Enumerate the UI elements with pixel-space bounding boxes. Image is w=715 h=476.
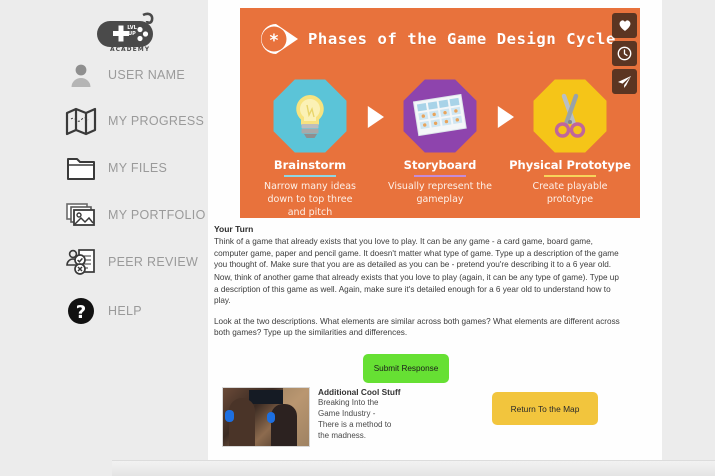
peer-review-icon bbox=[64, 245, 98, 279]
submit-response-button[interactable]: Submit Response bbox=[363, 354, 449, 383]
lesson-paragraph-1: Think of a game that already exists that… bbox=[214, 236, 624, 271]
sidebar-item-user-name[interactable]: USER NAME bbox=[52, 52, 208, 98]
sidebar-item-label: PEER REVIEW bbox=[108, 255, 198, 269]
banner-title: Phases of the Game Design Cycle bbox=[308, 30, 616, 48]
lesson-paragraph-3: Look at the two descriptions. What eleme… bbox=[214, 316, 624, 339]
additional-content-line: There is a method to bbox=[318, 420, 438, 431]
sidebar-item-my-progress[interactable]: MY PROGRESS bbox=[52, 98, 208, 144]
phase-description: Visually represent the gameplay bbox=[388, 181, 492, 207]
phases-row: Brainstorm Narrow many ideas down to top… bbox=[240, 78, 640, 218]
banner-header: * Phases of the Game Design Cycle bbox=[256, 22, 616, 56]
scrollbar-corner bbox=[0, 460, 112, 476]
lesson-text: Your Turn Think of a game that already e… bbox=[214, 224, 624, 340]
phase-rule bbox=[544, 175, 596, 177]
phase-name: Storyboard bbox=[404, 158, 477, 172]
question-mark-icon: ? bbox=[64, 294, 98, 328]
lightbulb-icon bbox=[289, 91, 331, 141]
additional-content-line: Breaking Into the bbox=[318, 398, 438, 409]
svg-text:*: * bbox=[270, 31, 279, 51]
page-root: LVL UP ACADEMY USER NAME bbox=[0, 0, 715, 476]
heart-icon bbox=[618, 19, 632, 32]
banner-action-buttons bbox=[612, 13, 637, 94]
additional-content-row: Additional Cool Stuff Breaking Into the … bbox=[222, 387, 642, 451]
sidebar-item-help[interactable]: ? HELP bbox=[52, 288, 208, 334]
lesson-paragraph-2: Now, think of another game that already … bbox=[214, 272, 624, 307]
sidebar-item-my-files[interactable]: MY FILES bbox=[52, 145, 208, 191]
favorite-button[interactable] bbox=[612, 13, 637, 38]
sidebar-item-my-portfolio[interactable]: MY PORTFOLIO bbox=[52, 192, 208, 238]
storyboard-grid-icon bbox=[413, 94, 467, 138]
additional-content-line: Game Industry - bbox=[318, 409, 438, 420]
phase-name: Physical Prototype bbox=[509, 158, 631, 172]
paper-plane-icon bbox=[617, 75, 632, 89]
folder-icon bbox=[64, 151, 98, 185]
gamepad-logo-icon: LVL UP ACADEMY bbox=[96, 10, 164, 54]
map-icon bbox=[64, 104, 98, 138]
history-button[interactable] bbox=[612, 41, 637, 66]
left-gutter bbox=[0, 0, 52, 460]
additional-content-title: Additional Cool Stuff bbox=[318, 387, 438, 397]
phase-storyboard: Storyboard Visually represent the gamepl… bbox=[384, 78, 496, 207]
lesson-heading: Your Turn bbox=[214, 224, 624, 234]
phase-badge bbox=[272, 78, 348, 154]
phase-name: Brainstorm bbox=[274, 158, 346, 172]
phase-brainstorm: Brainstorm Narrow many ideas down to top… bbox=[254, 78, 366, 218]
sidebar: LVL UP ACADEMY USER NAME bbox=[52, 0, 208, 460]
phase-rule bbox=[284, 175, 336, 177]
sidebar-item-label: USER NAME bbox=[108, 68, 185, 82]
lesson-banner: * Phases of the Game Design Cycle bbox=[240, 8, 640, 218]
video-thumbnail[interactable] bbox=[222, 387, 310, 447]
additional-content-text: Additional Cool Stuff Breaking Into the … bbox=[318, 387, 438, 442]
sidebar-item-label: MY PROGRESS bbox=[108, 114, 204, 128]
phase-physical-prototype: Physical Prototype Create playable proto… bbox=[514, 78, 626, 207]
images-icon bbox=[64, 198, 98, 232]
app-logo[interactable]: LVL UP ACADEMY bbox=[52, 8, 208, 56]
sidebar-item-label: MY PORTFOLIO bbox=[108, 208, 206, 222]
page-right-gutter bbox=[662, 0, 715, 460]
sidebar-item-label: MY FILES bbox=[108, 161, 167, 175]
phase-description: Narrow many ideas down to top three and … bbox=[258, 181, 362, 218]
user-icon bbox=[64, 58, 98, 92]
phase-rule bbox=[414, 175, 466, 177]
logo-line2: UP bbox=[128, 31, 136, 37]
svg-text:?: ? bbox=[76, 302, 86, 323]
arrow-right-icon bbox=[366, 106, 384, 128]
sidebar-item-peer-review[interactable]: PEER REVIEW bbox=[52, 239, 208, 285]
horizontal-scrollbar[interactable] bbox=[112, 460, 715, 476]
scissors-icon bbox=[549, 91, 591, 141]
phase-badge bbox=[532, 78, 608, 154]
send-button[interactable] bbox=[612, 69, 637, 94]
sidebar-item-label: HELP bbox=[108, 304, 142, 318]
arrow-right-icon bbox=[496, 106, 514, 128]
asterisk-eye-icon: * bbox=[256, 22, 300, 56]
phase-badge bbox=[402, 78, 478, 154]
phase-description: Create playable prototype bbox=[518, 181, 622, 207]
return-to-map-button[interactable]: Return To the Map bbox=[492, 392, 598, 425]
main-content: * Phases of the Game Design Cycle bbox=[208, 0, 662, 460]
clock-icon bbox=[617, 46, 632, 61]
additional-content-line: the madness. bbox=[318, 431, 438, 442]
